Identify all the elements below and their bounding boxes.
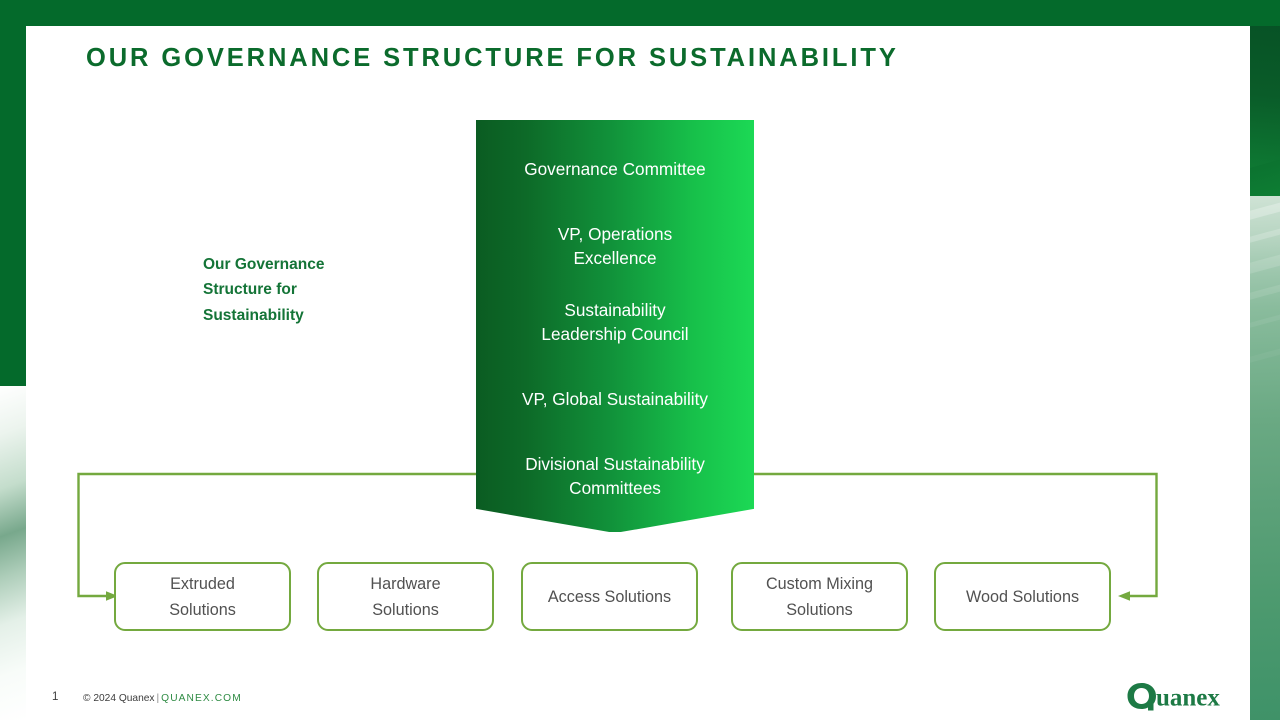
footer-website-link[interactable]: QUANEX.COM — [161, 693, 242, 704]
quanex-logo-text: uanex — [1156, 685, 1220, 712]
division-box-wood-solutions-label: Wood Solutions — [966, 584, 1079, 610]
division-box-hardware-solutions[interactable]: Hardware Solutions — [317, 562, 494, 631]
footer-copyright: © 2024 Quanex|QUANEX.COM — [83, 693, 242, 704]
division-box-custom-mixing-solutions-label: Custom Mixing Solutions — [766, 571, 873, 623]
page-number: 1 — [52, 691, 58, 703]
division-box-hardware-solutions-label: Hardware Solutions — [370, 571, 440, 623]
division-box-wood-solutions[interactable]: Wood Solutions — [934, 562, 1111, 631]
quanex-logo: uanex — [1125, 681, 1225, 716]
division-box-access-solutions-label: Access Solutions — [548, 584, 671, 610]
division-box-extruded-solutions-label: Extruded Solutions — [169, 571, 236, 623]
quanex-logo-mark: uanex — [1125, 681, 1225, 711]
division-boxes: Extruded Solutions Hardware Solutions Ac… — [0, 0, 1280, 720]
division-box-access-solutions[interactable]: Access Solutions — [521, 562, 698, 631]
slide: OUR GOVERNANCE STRUCTURE FOR SUSTAINABIL… — [0, 0, 1280, 720]
division-box-custom-mixing-solutions[interactable]: Custom Mixing Solutions — [731, 562, 908, 631]
footer-copyright-text: © 2024 Quanex — [83, 693, 155, 704]
division-box-extruded-solutions[interactable]: Extruded Solutions — [114, 562, 291, 631]
